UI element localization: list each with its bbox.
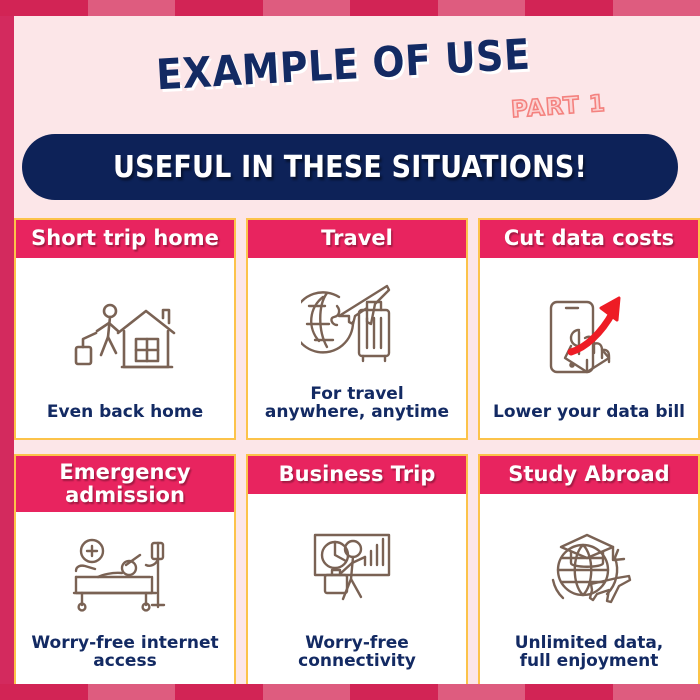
card-title: Study Abroad [480,456,698,494]
card-body: Even back home [16,258,234,438]
card-study-abroad[interactable]: Study Abroad [478,454,700,689]
card-travel[interactable]: Travel [246,218,468,440]
card-caption: Worry-free internetaccess [31,634,218,677]
hospital-bed-patient-iv-icon [22,516,228,633]
situation-card-grid: Short trip home [14,218,700,689]
card-title: Short trip home [16,220,234,258]
card-body: Worry-freeconnectivity [248,494,466,687]
card-caption: Even back home [47,403,203,428]
banner-label: USEFUL IN THESE SITUATIONS! [113,150,587,185]
page-title: EXAMPLE OF USE [155,30,531,100]
card-body: Worry-free internetaccess [16,512,234,687]
card-short-trip-home[interactable]: Short trip home [14,218,236,440]
card-cut-data-costs[interactable]: Cut data costs [478,218,700,440]
card-body: Lower your data bill [480,258,698,438]
card-caption: For travelanywhere, anytime [265,385,449,428]
card-business-trip[interactable]: Business Trip [246,454,468,689]
poster-canvas: EXAMPLE OF USE PART 1 USEFUL IN THESE SI… [0,0,700,700]
businessperson-presentation-briefcase-icon [254,498,460,634]
card-body: Unlimited data,full enjoyment [480,494,698,687]
bottom-stripe-band [0,684,700,700]
globe-graduation-cap-airplane-icon [486,498,692,634]
traveler-walking-to-house-icon [22,262,228,404]
card-emergency-admission[interactable]: Emergencyadmission [14,454,236,689]
poster-content: EXAMPLE OF USE PART 1 USEFUL IN THESE SI… [0,0,700,700]
card-caption: Lower your data bill [493,403,685,428]
top-stripe-band [0,0,700,16]
title-area: EXAMPLE OF USE PART 1 [14,16,700,134]
part-badge: PART 1 [510,91,607,124]
globe-airplane-suitcase-icon [254,262,460,385]
card-title: Business Trip [248,456,466,494]
card-title: Travel [248,220,466,258]
card-title: Cut data costs [480,220,698,258]
card-caption: Worry-freeconnectivity [298,634,416,677]
situations-banner: USEFUL IN THESE SITUATIONS! [22,134,678,200]
smartphone-tap-red-arrow-icon [486,262,692,404]
card-title: Emergencyadmission [16,456,234,512]
card-body: For travelanywhere, anytime [248,258,466,438]
card-caption: Unlimited data,full enjoyment [515,634,664,677]
